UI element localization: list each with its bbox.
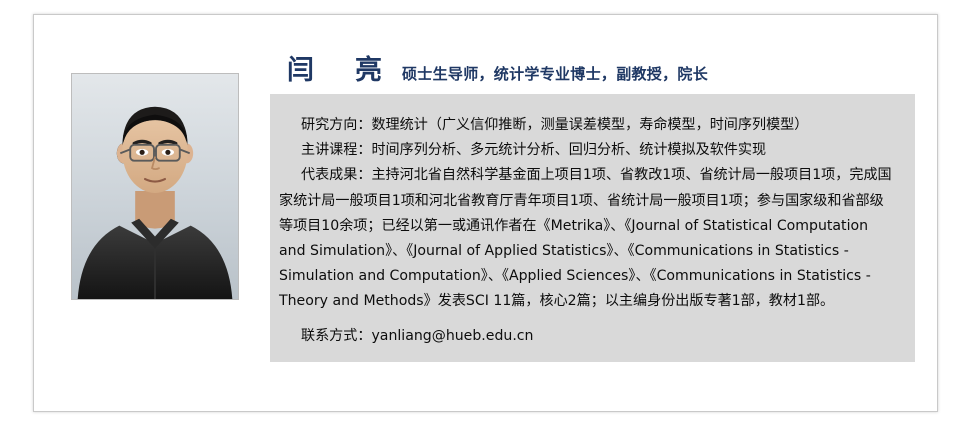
profile-card: 闫 亮 硕士生导师，统计学专业博士，副教授，院长 研究方向：数理统计（广义信仰推… (33, 14, 938, 412)
person-titles: 硕士生导师，统计学专业博士，副教授，院长 (402, 63, 708, 84)
info-line-achievements-6: Theory and Methods》发表SCI 11篇，核心2篇；以主编身份出… (279, 289, 906, 314)
info-line-research: 研究方向：数理统计（广义信仰推断，测量误差模型，寿命模型，时间序列模型） (279, 113, 906, 138)
portrait-photo (71, 73, 239, 300)
portrait-illustration (72, 74, 238, 299)
page-title: 闫 亮 (287, 48, 389, 87)
info-line-courses: 主讲课程：时间序列分析、多元统计分析、回归分析、统计模拟及软件实现 (279, 138, 906, 163)
info-line-achievements-3: 等项目10余项；已经以第一或通讯作者在《Metrika》、《Journal of… (279, 214, 906, 239)
info-line-achievements-2: 家统计局一般项目1项和河北省教育厅青年项目1项、省统计局一般项目1项；参与国家级… (279, 189, 906, 214)
info-panel: 研究方向：数理统计（广义信仰推断，测量误差模型，寿命模型，时间序列模型） 主讲课… (270, 94, 915, 362)
info-line-achievements-1: 代表成果：主持河北省自然科学基金面上项目1项、省教改1项、省统计局一般项目1项，… (279, 163, 906, 188)
heading-row: 闫 亮 硕士生导师，统计学专业博士，副教授，院长 (287, 48, 708, 88)
info-line-contact: 联系方式：yanliang@hueb.edu.cn (279, 324, 906, 349)
info-line-achievements-5: Simulation and Computation》、《Applied Sci… (279, 264, 906, 289)
info-line-achievements-4: and Simulation》、《Journal of Applied Stat… (279, 239, 906, 264)
